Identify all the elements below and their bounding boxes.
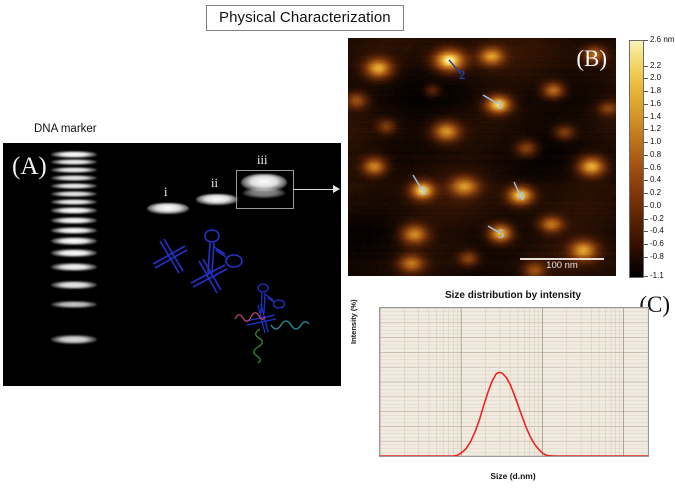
colorbar-tick: [644, 206, 648, 207]
colorbar-tick: [644, 91, 648, 92]
colorbar-tick-label: 1.2: [650, 124, 661, 133]
chart-series-line: [380, 372, 648, 456]
chart-x-tick: [542, 456, 543, 457]
colorbar-tick: [644, 104, 648, 105]
colorbar-tick: [644, 257, 648, 258]
colorbar-tick-label: 2.2: [650, 61, 661, 70]
afm-marker-4: 4: [518, 189, 524, 204]
panel-b-afm-image: (B) 2 1 3 4 5 100 nm: [348, 38, 616, 276]
chart-y-tick: [379, 382, 380, 383]
chart-y-tick: [379, 323, 380, 324]
colorbar-tick-label: -0.6: [650, 239, 664, 248]
dna-cross-schematic-1: [153, 239, 187, 273]
panel-c-dls-chart: Size distribution by intensity (C) Inten…: [352, 288, 674, 498]
colorbar-tick: [644, 129, 648, 130]
colorbar-tick-label: -1.1: [650, 271, 664, 280]
colorbar-tick: [644, 180, 648, 181]
colorbar-tick-label: 1.8: [650, 86, 661, 95]
colorbar-tick-label: 2.6 nm: [650, 35, 674, 44]
afm-marker-2: 2: [459, 68, 465, 83]
colorbar-tick: [644, 193, 648, 194]
afm-marker-3: 3: [420, 184, 426, 199]
colorbar-tick: [644, 78, 648, 79]
chart-x-tick: [461, 456, 462, 457]
colorbar-tick: [644, 66, 648, 67]
chart-plot-area: 024681012141618201.0010.00100.001000.00: [379, 307, 649, 457]
colorbar-tick: [644, 40, 648, 41]
chart-curve-svg: [380, 308, 648, 456]
chart-y-tick: [379, 441, 380, 442]
colorbar-tick: [644, 142, 648, 143]
chart-y-tick: [379, 352, 380, 353]
colorbar-tick-label: 0.6: [650, 163, 661, 172]
colorbar-tick-label: 0.0: [650, 201, 661, 210]
dna-schematic-group: [3, 143, 341, 386]
colorbar-tick-label: -0.4: [650, 226, 664, 235]
figure-root: Physical Characterization DNA marker (A)…: [0, 0, 675, 499]
afm-colorbar: 2.6 nm2.22.01.81.61.41.21.00.80.60.40.20…: [629, 40, 673, 276]
colorbar-gradient: [629, 40, 644, 278]
dna-marker-label: DNA marker: [34, 123, 97, 135]
colorbar-tick: [644, 155, 648, 156]
dna-cross-schematic-3: [246, 284, 285, 333]
colorbar-tick-label: 0.2: [650, 188, 661, 197]
colorbar-tick-label: 1.6: [650, 99, 661, 108]
colorbar-tick-label: 0.4: [650, 175, 661, 184]
colorbar-tick-label: 2.0: [650, 73, 661, 82]
chart-x-tick: [380, 456, 381, 457]
panel-a-gel-image: (A) i ii iii: [3, 143, 341, 386]
colorbar-tick: [644, 219, 648, 220]
afm-marker-1: 1: [497, 98, 503, 113]
chart-y-tick: [379, 338, 380, 339]
colorbar-tick-label: 1.4: [650, 112, 661, 121]
colorbar-tick: [644, 168, 648, 169]
chart-title: Size distribution by intensity: [352, 290, 674, 301]
afm-marker-5: 5: [498, 227, 504, 242]
figure-title: Physical Characterization: [206, 5, 404, 31]
chart-y-axis-label: Intensity (%): [349, 299, 358, 344]
strand-green: [254, 329, 263, 363]
chart-y-tick: [379, 426, 380, 427]
colorbar-tick-label: -0.2: [650, 214, 664, 223]
chart-x-tick: [624, 456, 625, 457]
strand-teal: [271, 321, 309, 329]
colorbar-tick-label: -0.8: [650, 252, 664, 261]
chart-y-tick: [379, 456, 380, 457]
dna-cross-schematic-2: [191, 230, 242, 293]
chart-y-tick: [379, 412, 380, 413]
colorbar-tick: [644, 244, 648, 245]
colorbar-tick-label: 0.8: [650, 150, 661, 159]
chart-y-tick: [379, 397, 380, 398]
colorbar-tick: [644, 231, 648, 232]
chart-x-axis-label: Size (d.nm): [379, 471, 647, 481]
colorbar-tick: [644, 117, 648, 118]
chart-y-tick: [379, 308, 380, 309]
chart-y-tick: [379, 367, 380, 368]
afm-marker-leaders: [348, 38, 616, 276]
colorbar-tick-label: 1.0: [650, 137, 661, 146]
colorbar-tick: [644, 276, 648, 277]
